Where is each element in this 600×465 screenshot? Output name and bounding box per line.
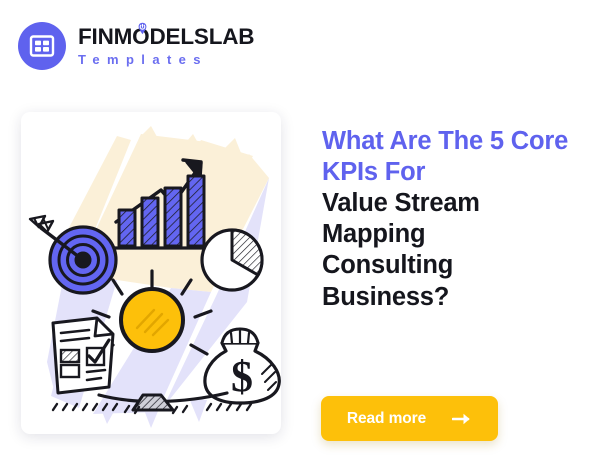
- brand-header[interactable]: FINMODELSLAB Templates: [18, 22, 254, 70]
- headline-main-line-4: Business?: [322, 282, 584, 313]
- illustration-card: $: [21, 112, 281, 434]
- page-title: What Are The 5 Core KPIs For Value Strea…: [322, 126, 584, 313]
- headline-main-line-1: Value Stream: [322, 188, 584, 219]
- read-more-label: Read more: [347, 410, 426, 428]
- promo-card: FINMODELSLAB Templates: [0, 0, 600, 465]
- arrow-right-icon: [452, 412, 472, 426]
- svg-text:$: $: [231, 352, 253, 401]
- brand-name-label: FINMODELSLAB: [78, 24, 254, 49]
- checklist-document: [53, 318, 113, 393]
- headline-main-line-2: Mapping: [322, 219, 584, 250]
- brand-name: FINMODELSLAB: [78, 26, 254, 49]
- power-pin-icon: [138, 22, 147, 35]
- grid-table-icon: [18, 22, 66, 70]
- headline-block: What Are The 5 Core KPIs For Value Strea…: [322, 126, 584, 313]
- headline-accent-line-2: KPIs For: [322, 157, 584, 188]
- brand-tagline: Templates: [78, 53, 254, 66]
- headline-accent-line-1: What Are The 5 Core: [322, 126, 584, 157]
- brand-text: FINMODELSLAB Templates: [78, 26, 254, 67]
- business-analytics-illustration: $: [21, 112, 281, 434]
- read-more-button[interactable]: Read more: [321, 396, 498, 441]
- pie-chart: [202, 230, 262, 290]
- headline-main-line-3: Consulting: [322, 250, 584, 281]
